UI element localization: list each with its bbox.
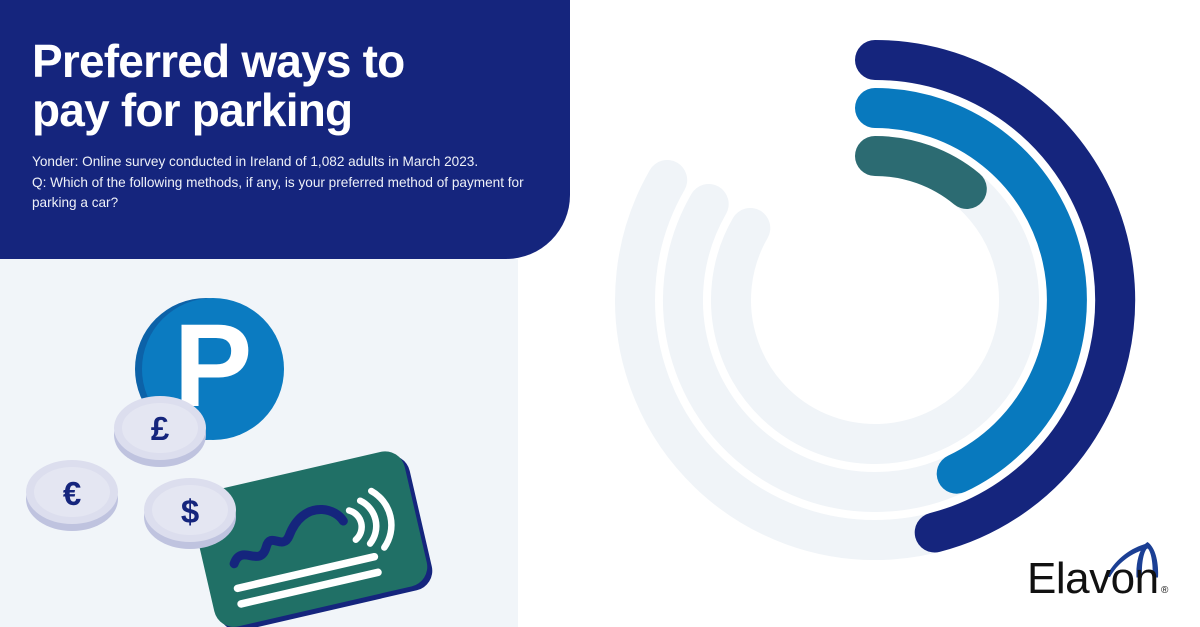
arc-no-preference: [875, 156, 967, 189]
dollar-coin-icon: $: [144, 478, 236, 549]
euro-coin-icon: €: [26, 460, 118, 531]
elavon-logo[interactable]: Elavon ®: [1027, 541, 1177, 601]
source-text: Online survey conducted in Ireland of 1,…: [78, 154, 478, 169]
elavon-wordmark: Elavon: [1027, 554, 1159, 601]
elavon-logo-svg: Elavon ®: [1027, 541, 1177, 601]
pound-coin-icon: £: [114, 396, 206, 467]
infographic-canvas: Preferred ways to pay for parking Yonder…: [0, 0, 1200, 627]
euro-symbol: €: [63, 475, 81, 512]
page-title-line-1: Preferred ways to: [32, 37, 532, 86]
dollar-symbol: $: [181, 493, 199, 530]
question-label: Q:: [32, 175, 46, 190]
chart-value-arcs: [875, 60, 1115, 533]
survey-methodology: Yonder: Online survey conducted in Irela…: [32, 152, 537, 214]
pound-symbol: £: [151, 410, 170, 447]
question-text: Which of the following methods, if any, …: [32, 175, 524, 211]
page-title-line-2: pay for parking: [32, 86, 532, 135]
source-label: Yonder:: [32, 154, 78, 169]
parking-payment-illustration: P: [0, 259, 518, 627]
page-title: Preferred ways to pay for parking: [32, 37, 532, 135]
illustration-panel: P: [0, 259, 518, 627]
hero-panel: Preferred ways to pay for parking Yonder…: [0, 0, 570, 259]
radial-chart-svg: [600, 0, 1200, 600]
radial-bar-chart: Prefer card 46% Prefer cash 43% No prefe…: [600, 0, 1200, 600]
elavon-registered-mark: ®: [1161, 585, 1169, 596]
